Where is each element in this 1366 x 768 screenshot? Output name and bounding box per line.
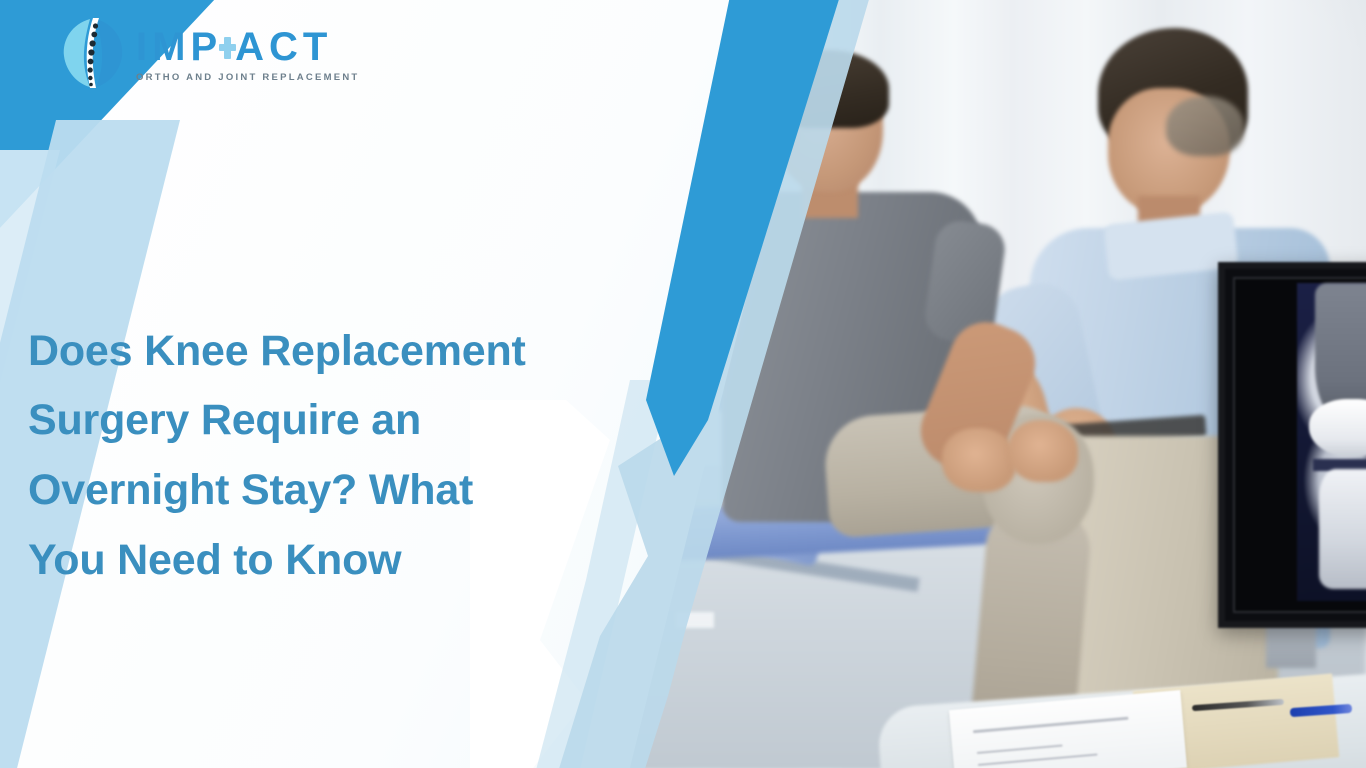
knee-xray-image [1297,283,1366,601]
logo-wordmark: IMPACT [136,27,359,67]
promotional-banner: IMPACT ORTHO AND JOINT REPLACEMENT Does … [0,0,1366,768]
page-title: Does Knee Replacement Surgery Require an… [28,317,638,596]
xray-monitor [1218,262,1366,628]
patient-hand-left [942,428,1016,492]
logo-text-group: IMPACT ORTHO AND JOINT REPLACEMENT [136,23,359,83]
logo-word-letter-p: P [190,27,222,67]
headline-line-2: Surgery Require an [28,386,638,456]
headline-line-1: Does Knee Replacement [28,317,638,387]
brand-logo[interactable]: IMPACT ORTHO AND JOINT REPLACEMENT [60,16,359,90]
headline-line-3: Overnight Stay? What [28,456,638,526]
xray-knee-implant [1309,399,1366,457]
logo-tagline: ORTHO AND JOINT REPLACEMENT [136,72,359,83]
medical-cross-icon [219,35,236,59]
patient-hand-right [1008,420,1078,482]
xray-tibia [1319,469,1366,589]
paper-text-line [973,717,1129,734]
spine-vertebrae-icon [60,16,126,90]
paper-text-line [978,753,1098,765]
paper-text-line [977,745,1063,754]
logo-word-part-2: ACT [235,27,332,67]
logo-word-part-1: IM [136,27,190,67]
headline-line-4: You Need to Know [28,526,638,596]
doctor-hair-highlight [1166,96,1244,156]
